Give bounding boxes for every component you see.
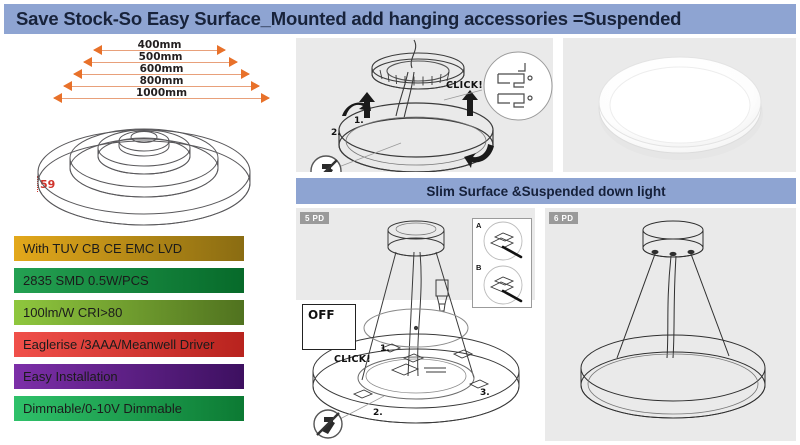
surface-lamp-photo-panel <box>563 38 796 172</box>
pendant-lamp-drawing <box>545 208 796 441</box>
click-label: CLICK! <box>334 354 371 365</box>
power-off-warning-box: OFF <box>302 304 356 350</box>
panel-badge: 5 PD <box>300 212 329 224</box>
feature-bar: Eaglerise /3AAA/Meanwell Driver <box>14 332 244 357</box>
panel-badge: 6 PD <box>549 212 578 224</box>
detail-a-label: A <box>476 221 481 230</box>
detail-ab-illustration <box>473 219 531 307</box>
feature-bar: With TUV CB CE EMC LVD <box>14 236 244 261</box>
section-banner-label: Slim Surface &Suspended down light <box>426 184 665 199</box>
dimension-label: 1000mm <box>54 87 269 99</box>
step-1-label: 1. <box>354 116 364 126</box>
feature-label: Easy Installation <box>23 369 118 384</box>
dimension-arrow-stack: 400mm 500mm 600mm 800mm 1000mm <box>52 42 267 108</box>
feature-label: 100lm/W CRI>80 <box>23 305 122 320</box>
dimension-label: 600mm <box>74 63 249 75</box>
section-banner: Slim Surface &Suspended down light <box>296 178 796 204</box>
feature-label: With TUV CB CE EMC LVD <box>23 241 182 256</box>
feature-bar: 2835 SMD 0.5W/PCS <box>14 268 244 293</box>
feature-label: Dimmable/0-10V Dimmable <box>23 401 182 416</box>
off-label: OFF <box>308 308 335 322</box>
stepped-disc-illustration <box>4 110 290 230</box>
feature-bar: Easy Installation <box>14 364 244 389</box>
dimension-label: 800mm <box>64 75 259 87</box>
surface-mount-diagram <box>296 38 553 172</box>
detail-b-label: B <box>476 263 481 272</box>
suspension-install-instruction-panel: OFF A B CLICK! 1. 2. 3. 5 PD <box>296 208 535 441</box>
page-title: Save Stock-So Easy Surface_Mounted add h… <box>4 8 681 30</box>
pendant-lamp-drawing-panel: 6 PD <box>545 208 796 441</box>
click-label: CLICK! <box>446 80 483 91</box>
feature-label: Eaglerise /3AAA/Meanwell Driver <box>23 337 214 352</box>
step-2-label: 2. <box>373 408 383 418</box>
step-2-label: 2. <box>331 128 341 138</box>
feature-bar: Dimmable/0-10V Dimmable <box>14 396 244 421</box>
dimension-label: 400mm <box>94 39 225 51</box>
surface-mount-instruction-panel: CLICK! 1. 2. <box>296 38 553 172</box>
step-3-label: 3. <box>480 388 490 398</box>
product-dimension-drawing-panel: 400mm 500mm 600mm 800mm 1000mm 59 <box>4 38 290 228</box>
feature-bar: 100lm/W CRI>80 <box>14 300 244 325</box>
round-surface-lamp-image <box>563 38 796 172</box>
feature-bar-list: With TUV CB CE EMC LVD 2835 SMD 0.5W/PCS… <box>14 236 244 428</box>
dimension-row: 1000mm <box>54 92 269 104</box>
feature-label: 2835 SMD 0.5W/PCS <box>23 273 149 288</box>
dimension-label: 500mm <box>84 51 237 63</box>
page-title-bar: Save Stock-So Easy Surface_Mounted add h… <box>4 4 796 34</box>
step-1-label: 1. <box>380 344 390 354</box>
detail-ab-box: A B <box>472 218 532 308</box>
